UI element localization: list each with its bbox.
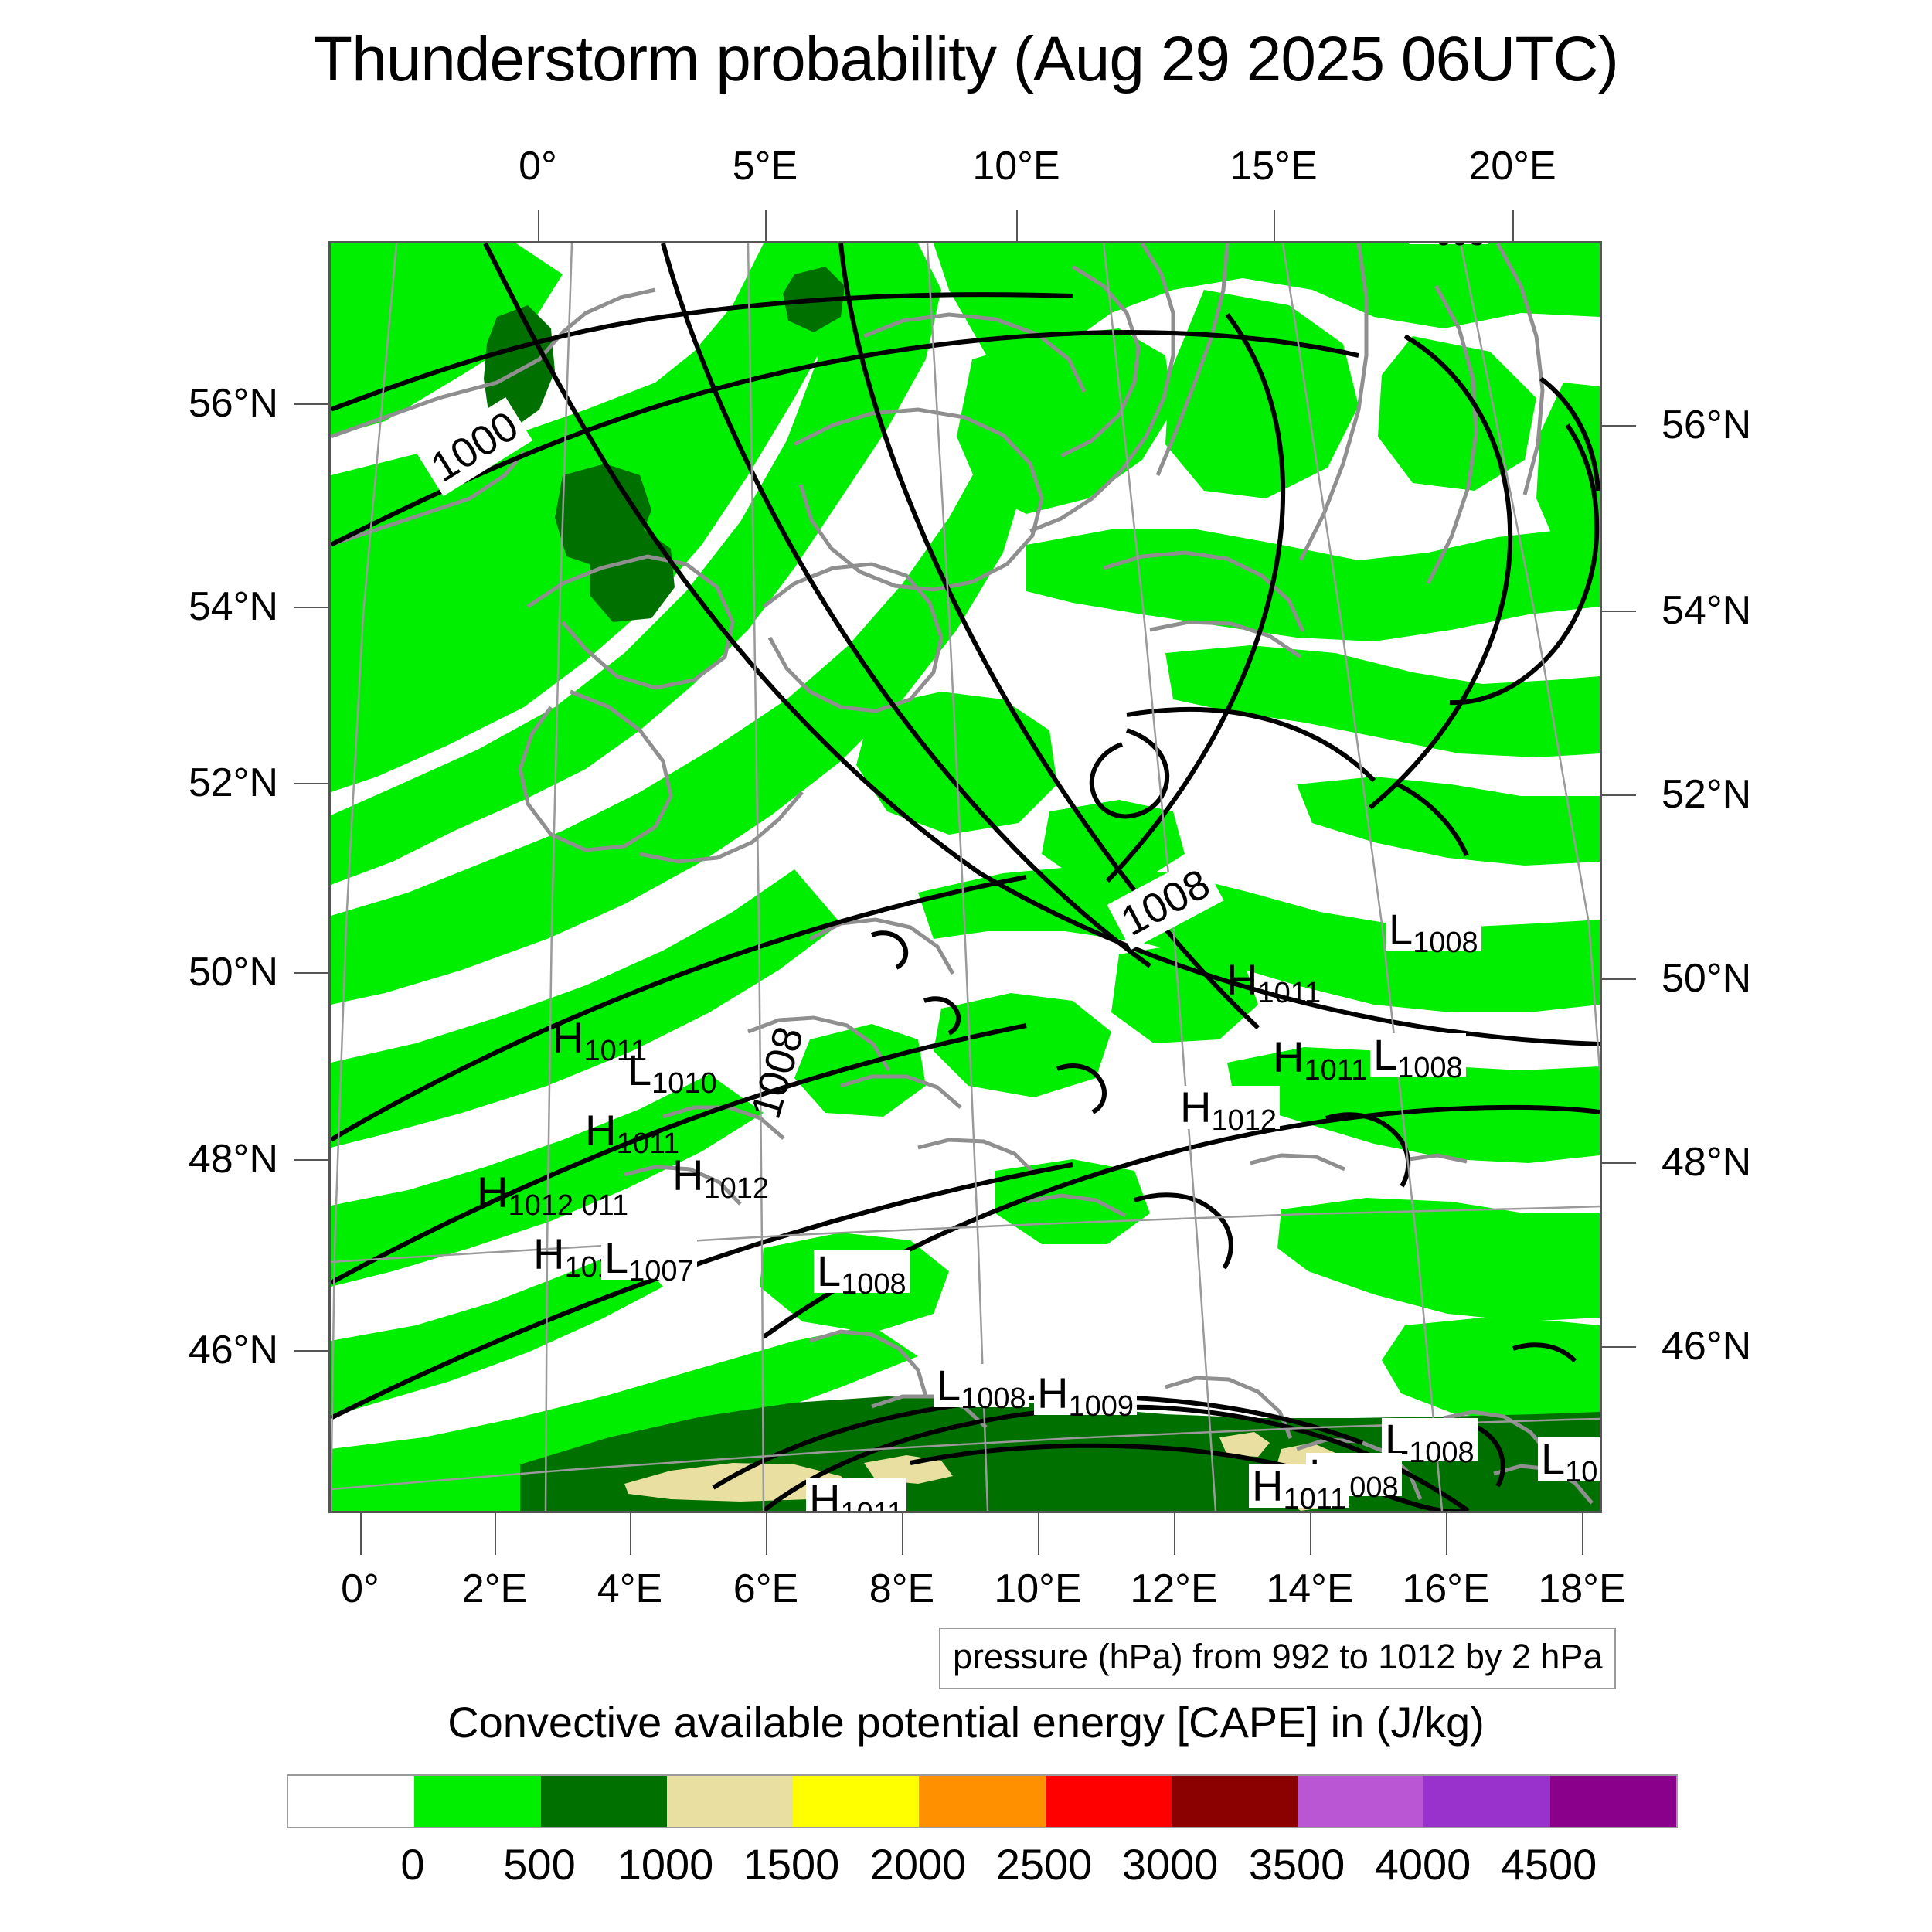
- axis-label-left-56: 56°N: [108, 380, 278, 427]
- colorbar-segment-1: [414, 1776, 540, 1827]
- axis-label-left-54: 54°N: [108, 583, 278, 630]
- colorbar-tick-2000: 2000: [870, 1839, 967, 1889]
- tick-right-52: [1602, 794, 1636, 796]
- axis-label-bottom-12: 12°E: [1130, 1566, 1217, 1612]
- tick-bottom-8: [902, 1512, 903, 1555]
- pressure-center-L-1008-alps: L1008: [814, 1250, 910, 1293]
- axis-label-right-52: 52°N: [1662, 771, 1751, 818]
- pressure-caption: pressure (hPa) from 992 to 1012 by 2 hPa: [939, 1628, 1616, 1689]
- axis-label-top-5: 5°E: [733, 143, 798, 189]
- colorbar-tick-0: 0: [400, 1839, 424, 1889]
- axis-label-right-56: 56°N: [1662, 402, 1751, 448]
- axis-label-bottom-18: 18°E: [1538, 1566, 1625, 1612]
- pressure-center-L-1007: L1007: [601, 1236, 697, 1280]
- colorbar-title: Convective available potential energy [C…: [0, 1697, 1932, 1747]
- tick-right-56: [1602, 425, 1636, 427]
- axis-label-bottom-0: 0°: [341, 1566, 379, 1612]
- colorbar-segment-5: [919, 1776, 1045, 1827]
- colorbar-tick-labels: 0 500 1000 1500 2000 2500 3000 3500 4000…: [287, 1839, 1675, 1893]
- pressure-center-H-1009: H1009: [1034, 1372, 1137, 1415]
- colorbar-segment-6: [1046, 1776, 1172, 1827]
- tick-left-56: [294, 403, 328, 405]
- colorbar-tick-500: 500: [503, 1839, 575, 1889]
- axis-label-right-46: 46°N: [1662, 1323, 1751, 1369]
- colorbar-segment-8: [1298, 1776, 1423, 1827]
- pressure-center-H-1011-clipped: H1011: [806, 1478, 906, 1511]
- tick-bottom-14: [1310, 1512, 1311, 1555]
- colorbar-segment-4: [793, 1776, 919, 1827]
- pressure-center-L-1008-right-mid: L1008: [1370, 1033, 1466, 1077]
- tick-bottom-18: [1582, 1512, 1583, 1555]
- tick-bottom-6: [766, 1512, 767, 1555]
- colorbar-segment-10: [1550, 1776, 1676, 1827]
- colorbar-tick-2500: 2500: [996, 1839, 1093, 1889]
- axis-label-bottom-6: 6°E: [733, 1566, 798, 1612]
- colorbar-segment-3: [667, 1776, 793, 1827]
- colorbar-tick-1000: 1000: [617, 1839, 714, 1889]
- pressure-center-H-1011-a: H1011: [1223, 958, 1324, 1002]
- pressure-center-L-998: L998: [1409, 243, 1488, 244]
- tick-left-46: [294, 1350, 328, 1352]
- axis-label-left-46: 46°N: [108, 1327, 278, 1373]
- pressure-center-H-1011-se: H1011: [1249, 1464, 1349, 1508]
- map-canvas: 1000 1008 1008 L1000 L998 L1008 H1011 H1…: [331, 243, 1600, 1511]
- colorbar-segment-2: [541, 1776, 667, 1827]
- tick-bottom-10: [1038, 1512, 1039, 1555]
- axis-label-top-20: 20°E: [1468, 143, 1556, 189]
- pressure-center-H-1012-011: H1012 011: [474, 1171, 631, 1214]
- colorbar-tick-3500: 3500: [1249, 1839, 1345, 1889]
- tick-left-54: [294, 607, 328, 608]
- colorbar-tick-4500: 4500: [1501, 1839, 1597, 1889]
- pressure-center-L-10-clipped: L10: [1538, 1437, 1600, 1481]
- pressure-center-L-1010: L1010: [624, 1049, 720, 1092]
- pressure-center-L-1008-se-a: L1008: [934, 1364, 1029, 1407]
- tick-bottom-2: [495, 1512, 496, 1555]
- axis-label-bottom-10: 10°E: [994, 1566, 1081, 1612]
- cape-colorbar[interactable]: [287, 1774, 1678, 1828]
- axis-label-top-0: 0°: [519, 143, 557, 189]
- axis-label-bottom-16: 16°E: [1402, 1566, 1489, 1612]
- tick-bottom-4: [630, 1512, 631, 1555]
- tick-bottom-12: [1174, 1512, 1175, 1555]
- axis-label-bottom-2: 2°E: [462, 1566, 527, 1612]
- tick-left-48: [294, 1159, 328, 1161]
- tick-left-50: [294, 972, 328, 974]
- tick-right-48: [1602, 1162, 1636, 1164]
- tick-top-0: [538, 210, 539, 243]
- colorbar-tick-4000: 4000: [1375, 1839, 1471, 1889]
- page-title: Thunderstorm probability (Aug 29 2025 06…: [0, 23, 1932, 96]
- pressure-center-H-1012-a: H1012: [1177, 1086, 1280, 1129]
- tick-bottom-16: [1446, 1512, 1447, 1555]
- axis-label-left-50: 50°N: [108, 949, 278, 995]
- pressure-center-H-1011-b: H1011: [1270, 1036, 1370, 1079]
- colorbar-segment-0: [288, 1776, 414, 1827]
- tick-right-46: [1602, 1346, 1636, 1348]
- axis-label-bottom-4: 4°E: [597, 1566, 662, 1612]
- tick-top-5: [765, 210, 767, 243]
- axis-label-left-52: 52°N: [108, 760, 278, 806]
- tick-right-54: [1602, 611, 1636, 612]
- tick-right-50: [1602, 978, 1636, 980]
- tick-left-52: [294, 783, 328, 784]
- axis-label-right-50: 50°N: [1662, 955, 1751, 1002]
- axis-label-right-54: 54°N: [1662, 587, 1751, 634]
- tick-bottom-0: [360, 1512, 362, 1555]
- axis-label-right-48: 48°N: [1662, 1139, 1751, 1185]
- pressure-center-L-1008-right-upper: L1008: [1386, 908, 1481, 951]
- axis-label-bottom-8: 8°E: [869, 1566, 934, 1612]
- pressure-center-H-1011-d: H1011: [582, 1109, 682, 1152]
- axis-label-top-10: 10°E: [972, 143, 1060, 189]
- axis-label-left-48: 48°N: [108, 1136, 278, 1182]
- tick-top-15: [1274, 210, 1275, 243]
- map-plot-area[interactable]: 1000 1008 1008 L1000 L998 L1008 H1011 H1…: [328, 241, 1602, 1513]
- axis-label-top-15: 15°E: [1230, 143, 1317, 189]
- tick-top-20: [1512, 210, 1514, 243]
- colorbar-segment-7: [1172, 1776, 1298, 1827]
- tick-top-10: [1016, 210, 1018, 243]
- pressure-center-H-1012-b: H1012: [669, 1154, 772, 1197]
- colorbar-segment-9: [1423, 1776, 1549, 1827]
- axis-label-bottom-14: 14°E: [1266, 1566, 1353, 1612]
- colorbar-tick-1500: 1500: [743, 1839, 840, 1889]
- colorbar-tick-3000: 3000: [1122, 1839, 1219, 1889]
